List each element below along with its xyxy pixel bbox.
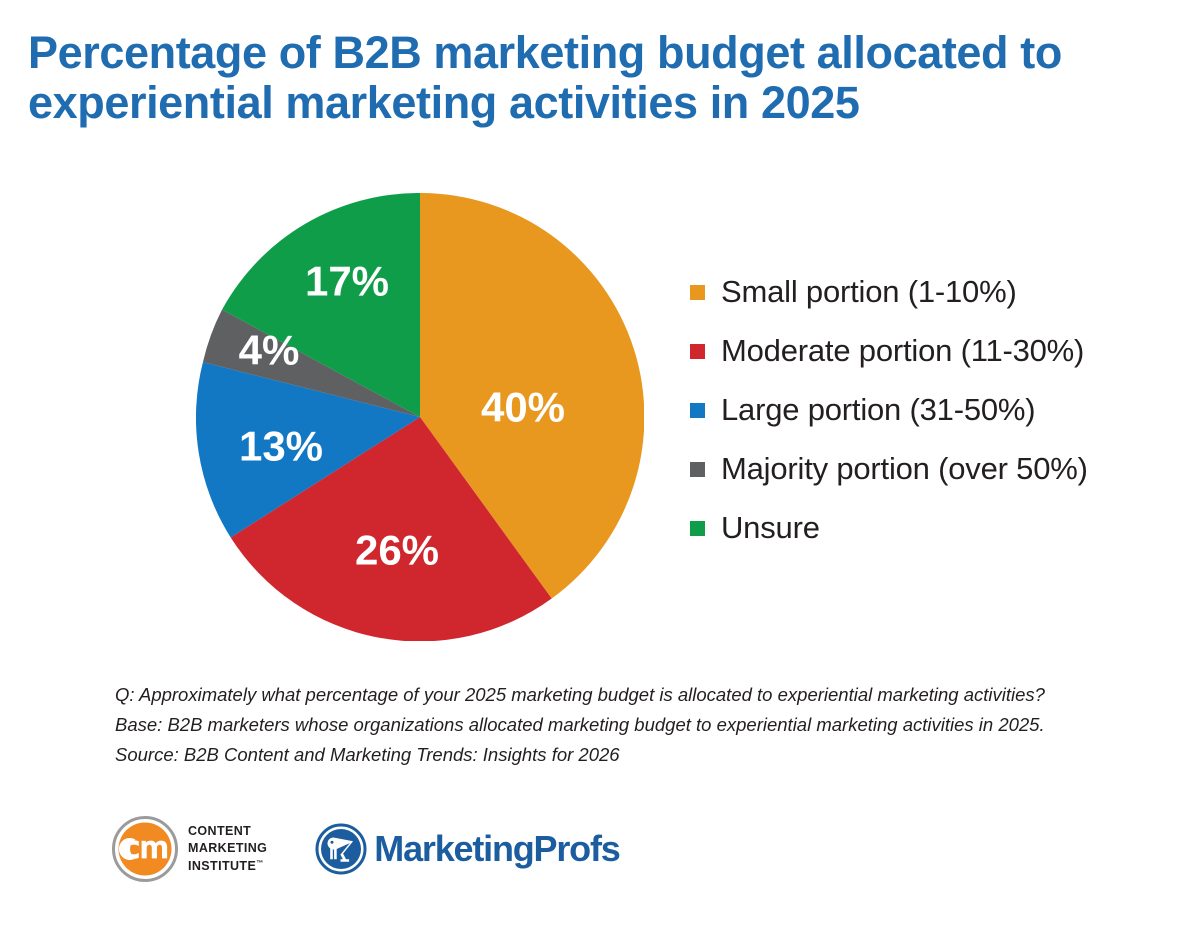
legend-swatch-icon [690, 344, 705, 359]
footnote-source: Source: B2B Content and Marketing Trends… [115, 740, 1175, 770]
marketingprofs-bird-icon [315, 823, 367, 875]
logo-bar: CONTENT MARKETING INSTITUTE™ MarketingPr… [112, 816, 620, 882]
pie-label-large-portion: 13% [239, 423, 323, 470]
marketingprofs-wordmark: MarketingProfs [374, 828, 619, 870]
legend-item-label: Small portion (1-10%) [721, 274, 1017, 310]
page-title: Percentage of B2B marketing budget alloc… [28, 28, 1168, 129]
legend-item-label: Unsure [721, 510, 820, 546]
footnote-question: Q: Approximately what percentage of your… [115, 680, 1175, 710]
pie-label-majority-portion: 4% [239, 327, 300, 374]
cmi-mark-icon [112, 816, 178, 882]
legend-swatch-icon [690, 521, 705, 536]
legend-item-majority-portion: Majority portion (over 50%) [690, 439, 1160, 498]
chart-legend: Small portion (1-10%) Moderate portion (… [690, 262, 1160, 557]
legend-swatch-icon [690, 403, 705, 418]
footnotes: Q: Approximately what percentage of your… [115, 680, 1175, 770]
legend-item-label: Moderate portion (11-30%) [721, 333, 1084, 369]
legend-item-large-portion: Large portion (31-50%) [690, 380, 1160, 439]
legend-item-unsure: Unsure [690, 498, 1160, 557]
pie-chart: 40% 26% 13% 4% 17% [196, 193, 644, 641]
legend-item-label: Majority portion (over 50%) [721, 451, 1088, 487]
marketingprofs-logo: MarketingProfs [315, 823, 619, 875]
legend-item-moderate-portion: Moderate portion (11-30%) [690, 321, 1160, 380]
pie-label-moderate-portion: 26% [355, 527, 439, 574]
footnote-base: Base: B2B marketers whose organizations … [115, 710, 1175, 740]
cmi-wordmark-line3: INSTITUTE [188, 859, 256, 873]
legend-item-small-portion: Small portion (1-10%) [690, 262, 1160, 321]
legend-swatch-icon [690, 462, 705, 477]
pie-chart-svg: 40% 26% 13% 4% 17% [196, 193, 644, 641]
legend-item-label: Large portion (31-50%) [721, 392, 1035, 428]
cmi-wordmark: CONTENT MARKETING INSTITUTE™ [188, 823, 267, 875]
content-marketing-institute-logo: CONTENT MARKETING INSTITUTE™ [112, 816, 267, 882]
trademark-symbol: ™ [256, 859, 263, 866]
cmi-wordmark-line3-wrap: INSTITUTE™ [188, 858, 267, 875]
cmi-wordmark-line2: MARKETING [188, 840, 267, 857]
pie-label-small-portion: 40% [481, 384, 565, 431]
cmi-wordmark-line1: CONTENT [188, 823, 267, 840]
legend-swatch-icon [690, 285, 705, 300]
pie-label-unsure: 17% [305, 258, 389, 305]
